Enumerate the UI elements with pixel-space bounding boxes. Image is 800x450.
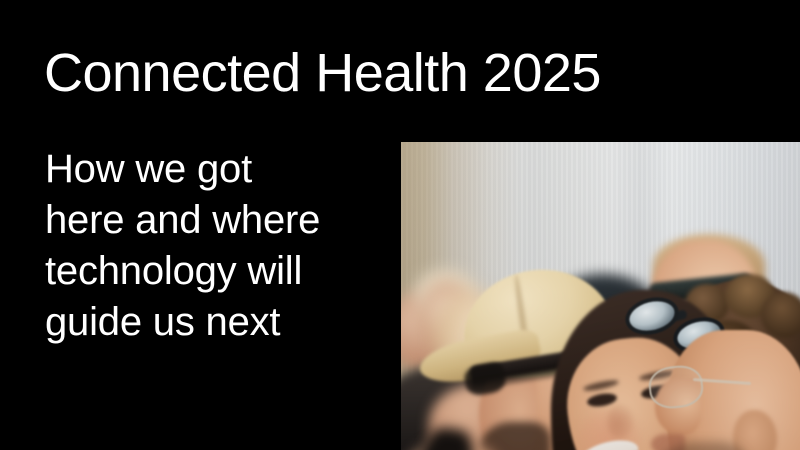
hair-curl [761,292,800,338]
woman-nose [607,404,633,438]
audience-photo-scene [401,142,800,450]
subtitle-line-4: guide us next [45,297,375,348]
presentation-slide: Connected Health 2025 How we got here an… [0,0,800,450]
subtitle-line-3: technology will [45,246,375,297]
subtitle-block: How we got here and where technology wil… [45,144,375,348]
audience-photo [401,142,800,450]
subtitle-line-2: here and where [45,195,375,246]
subtitle-line-1: How we got [45,144,375,195]
page-title: Connected Health 2025 [44,42,601,104]
